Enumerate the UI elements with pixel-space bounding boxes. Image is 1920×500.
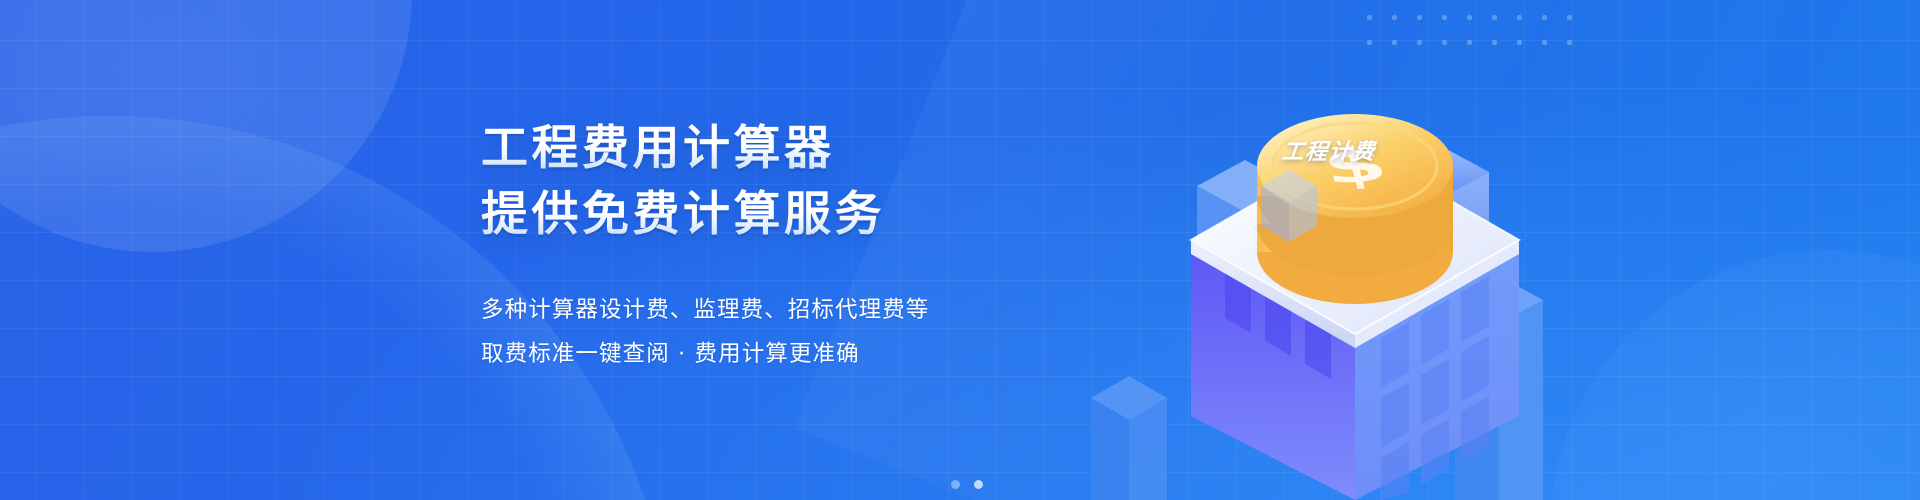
banner-headline-line-1: 工程费用计算器 bbox=[481, 120, 1121, 177]
carousel-pagination[interactable] bbox=[0, 480, 1920, 489]
illustration-badge-label: 工程计费 bbox=[1280, 134, 1377, 166]
banner-subtitle: 多种计算器设计费、监理费、招标代理费等 取费标准一键查阅 · 费用计算更准确 bbox=[481, 289, 1121, 377]
banner-copy: 工程费用计算器 提供免费计算服务 多种计算器设计费、监理费、招标代理费等 取费标… bbox=[481, 120, 1121, 376]
banner-headline-line-2: 提供免费计算服务 bbox=[481, 186, 1121, 243]
banner-subtitle-line-1: 多种计算器设计费、监理费、招标代理费等 bbox=[481, 289, 1121, 333]
carousel-dot-2[interactable] bbox=[974, 480, 983, 489]
carousel-dot-1[interactable] bbox=[951, 480, 960, 489]
banner-subtitle-line-2: 取费标准一键查阅 · 费用计算更准确 bbox=[481, 333, 1121, 377]
promo-banner: 工程费用计算器 提供免费计算服务 多种计算器设计费、监理费、招标代理费等 取费标… bbox=[0, 0, 1920, 500]
banner-illustration: $ bbox=[1075, 0, 1635, 500]
